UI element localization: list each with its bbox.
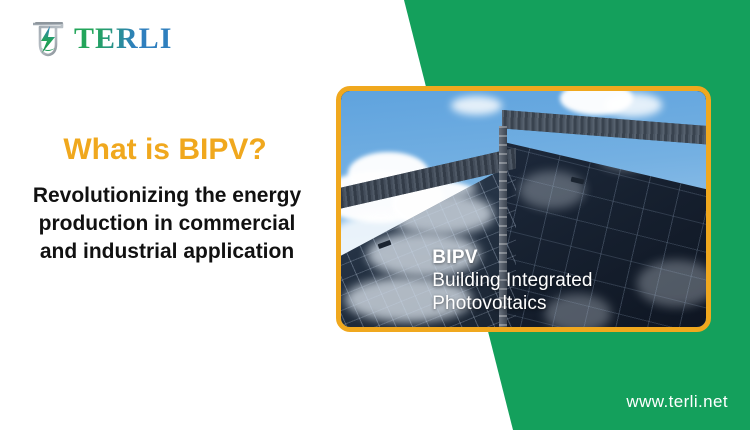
brand-logo-text: TERLI <box>74 24 172 54</box>
brand-logo[interactable]: TERLI <box>26 19 172 59</box>
page-subtitle: Revolutionizing the energy production in… <box>18 182 316 266</box>
photo-caption: BIPV Building Integrated Photovoltaics <box>432 246 592 316</box>
lightning-bolt-flask-icon <box>26 18 70 60</box>
website-url[interactable]: www.terli.net <box>626 392 728 412</box>
cloud-shape <box>451 96 502 115</box>
caption-line-2: Photovoltaics <box>432 292 592 315</box>
caption-line-1: Building Integrated <box>432 269 592 292</box>
hero-photo-card: BIPV Building Integrated Photovoltaics <box>336 86 711 332</box>
caption-title: BIPV <box>432 246 592 269</box>
banner-canvas: TERLI What is BIPV? Revolutionizing the … <box>0 0 750 430</box>
hero-photo: BIPV Building Integrated Photovoltaics <box>341 91 706 327</box>
cloud-shape <box>604 93 662 117</box>
page-title: What is BIPV? <box>0 133 330 166</box>
